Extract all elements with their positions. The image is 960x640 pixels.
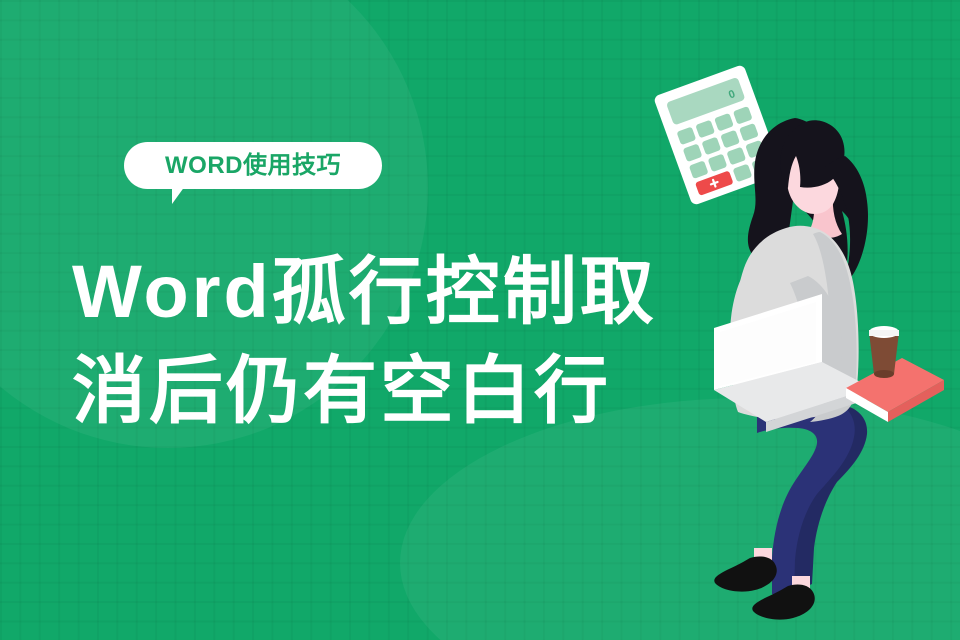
page-title-line-2: 消后仍有空白行 [72,341,732,440]
badge-pill[interactable]: WORD使用技巧 [124,142,382,189]
speech-bubble-tail-icon [172,186,198,204]
banner-canvas: 0 [0,0,960,640]
page-title-line-1: Word孤行控制取 [72,242,732,341]
page-title: Word孤行控制取 消后仍有空白行 [72,242,732,440]
badge[interactable]: WORD使用技巧 [124,142,382,189]
badge-label: WORD使用技巧 [165,154,341,178]
